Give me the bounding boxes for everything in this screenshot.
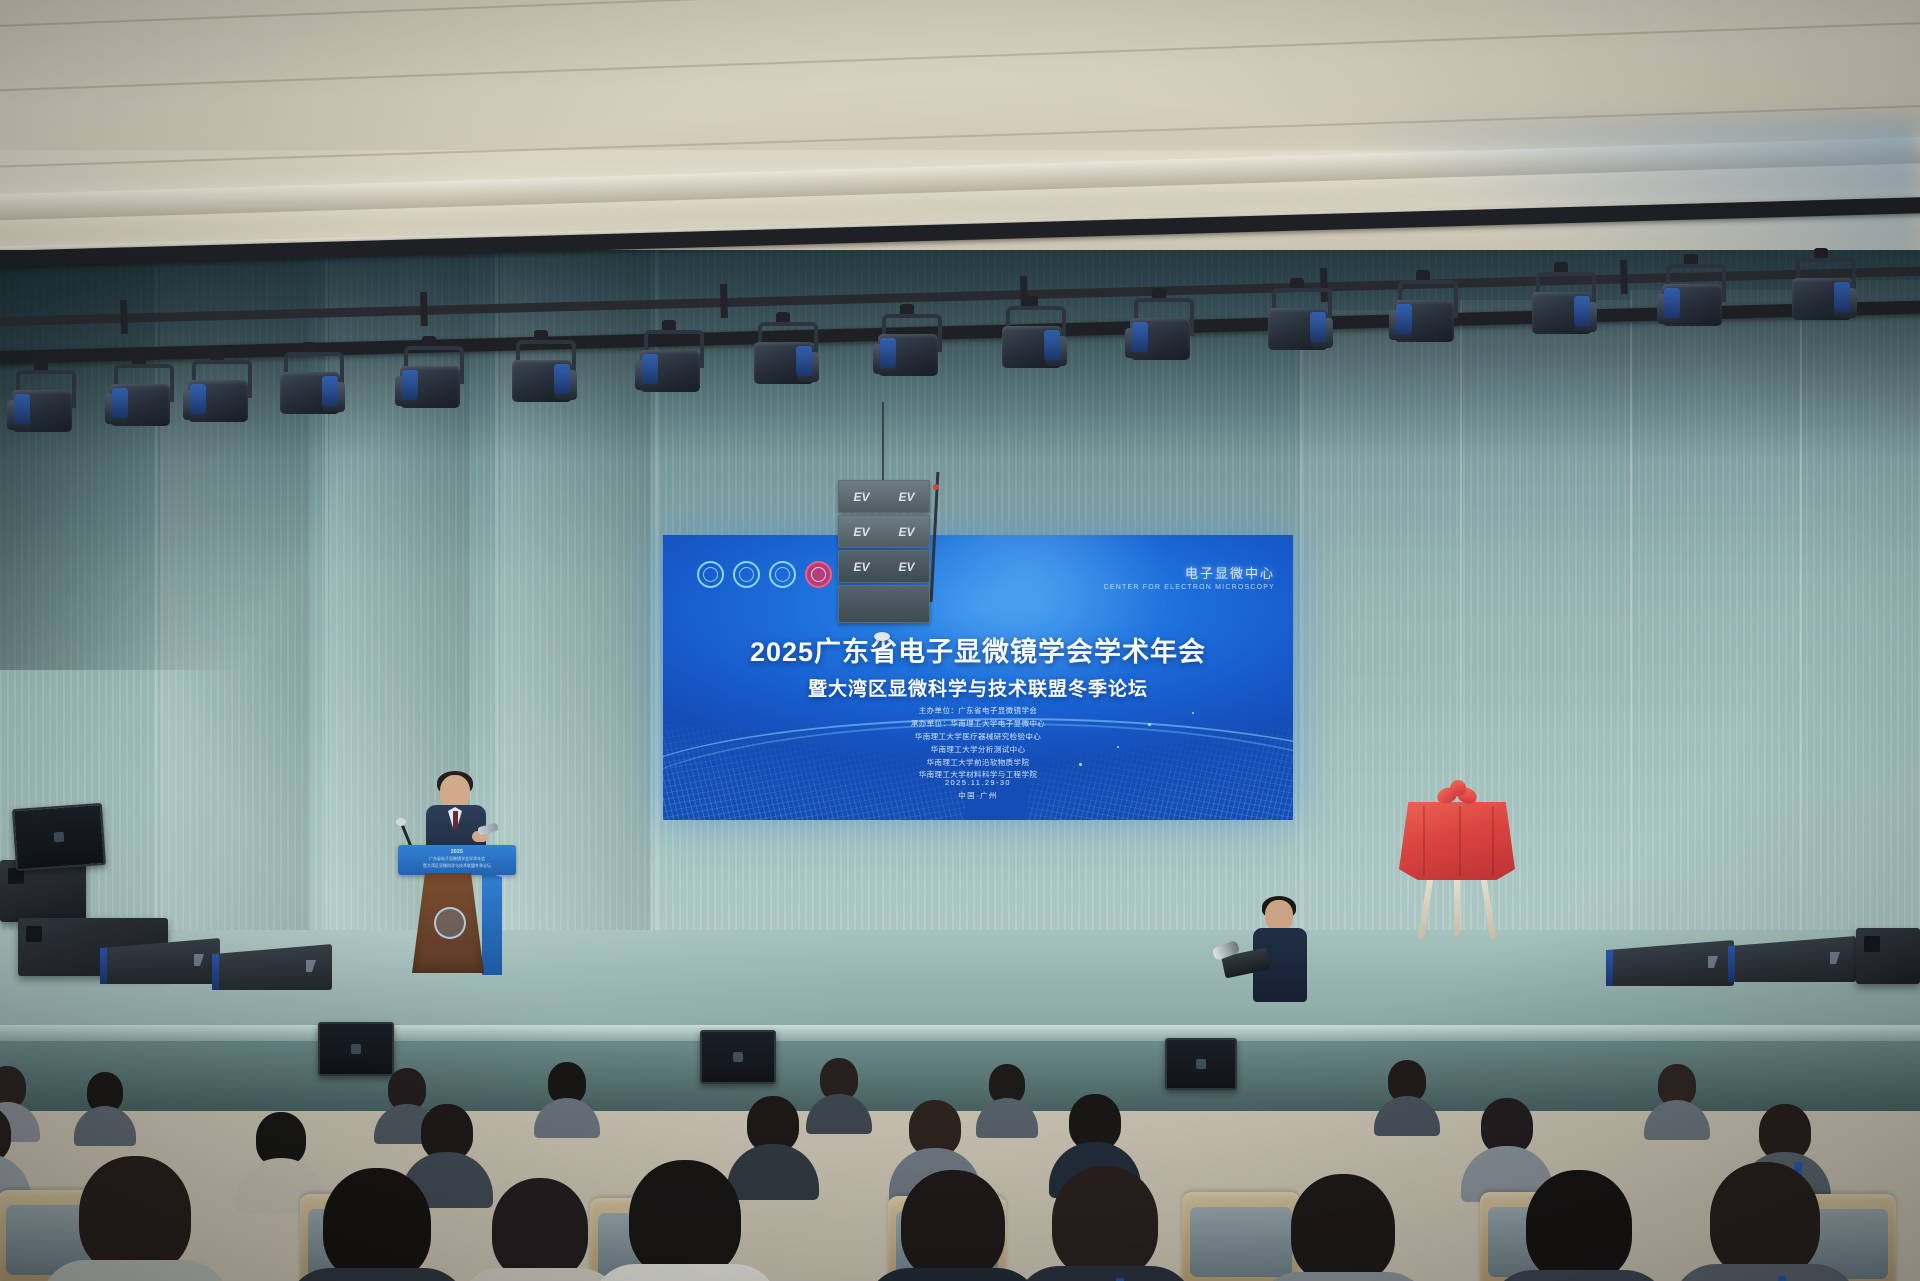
university-logo-3 — [769, 561, 796, 588]
audience-member — [1380, 1060, 1434, 1120]
truss-upright — [420, 292, 428, 326]
audience-member — [78, 1072, 132, 1132]
stage-light — [1530, 272, 1594, 350]
organizer-line: 主办单位：广东省电子显微镜学会 — [663, 705, 1293, 718]
stage-light — [876, 314, 940, 392]
audience-member — [980, 1064, 1034, 1124]
screen-title-line1: 2025广东省电子显微镜学会学术年会 — [663, 630, 1293, 669]
organizer-line: 承办单位：华南理工大学电子显微中心 — [663, 718, 1293, 731]
easel-leg — [1454, 872, 1460, 936]
podium-microphone-head — [396, 818, 406, 826]
stage-subwoofer — [1856, 928, 1920, 984]
easel-leg — [1480, 872, 1497, 940]
audience-member — [70, 1156, 200, 1281]
audience-member — [312, 1168, 442, 1281]
covered-easel — [1397, 780, 1517, 940]
speaker-brand-mark: EV — [898, 490, 914, 504]
university-logo-2 — [733, 561, 760, 588]
speaker-brand-mark: EV — [853, 560, 869, 574]
audience-member — [1280, 1174, 1406, 1281]
podium-title-line1: 广东省电子显微镜学会学术年会 — [398, 856, 516, 862]
audience-member — [1472, 1098, 1542, 1178]
center-brand-cn: 电子显微中心 — [1104, 563, 1275, 582]
speaker-indicator-light — [933, 484, 939, 490]
event-location: 中国·广州 — [663, 789, 1293, 802]
stage-light — [108, 364, 172, 442]
podium: 2025 广东省电子显微镜学会学术年会 暨大湾区显微科学与技术联盟冬季论坛 — [398, 845, 516, 975]
university-logo-4 — [805, 561, 832, 588]
easel-leg — [1418, 872, 1435, 940]
speaker-module: EVEV — [838, 515, 930, 548]
conference-hall-photo: 电子显微中心 CENTER FOR ELECTRON MICROSCOPY 20… — [0, 0, 1920, 1281]
stage-light — [10, 370, 74, 448]
stage-light — [278, 352, 342, 430]
speaker-brand-mark: EV — [853, 490, 869, 504]
organizer-line: 华南理工大学前沿软物质学院 — [663, 757, 1293, 770]
speaker-suspension-wire — [882, 402, 884, 482]
screen-title: 2025广东省电子显微镜学会学术年会 暨大湾区显微科学与技术联盟冬季论坛 — [663, 630, 1293, 701]
stage-light — [1128, 298, 1192, 376]
screen-title-line2: 暨大湾区显微科学与技术联盟冬季论坛 — [663, 674, 1293, 701]
audience-member — [1650, 1064, 1704, 1124]
university-logo-1 — [697, 561, 724, 588]
audience-member — [1042, 1166, 1168, 1281]
stage-light — [638, 330, 702, 408]
red-cloth-cover — [1399, 802, 1515, 880]
audience-member — [900, 1100, 970, 1180]
truss-upright — [1620, 260, 1628, 294]
audience-member — [890, 1170, 1016, 1281]
ceremonial-ribbon — [1437, 780, 1479, 810]
audience-member — [1700, 1162, 1830, 1281]
audience-member — [812, 1058, 866, 1118]
podium-front-panel: 2025 广东省电子显微镜学会学术年会 暨大湾区显微科学与技术联盟冬季论坛 — [398, 845, 516, 875]
audience-member — [480, 1178, 600, 1281]
speaker-brand-mark: EV — [898, 560, 914, 574]
stage-light — [1660, 264, 1724, 342]
presenter-tie — [453, 811, 458, 829]
audience-member — [1516, 1170, 1642, 1281]
podium-year: 2025 — [398, 849, 516, 855]
stage-light — [510, 340, 574, 418]
stage-light — [1392, 280, 1456, 358]
speaker-brand-mark: EV — [853, 525, 869, 539]
speaker-brand-mark: EV — [898, 525, 914, 539]
speaker-module — [838, 585, 930, 623]
center-brand-en: CENTER FOR ELECTRON MICROSCOPY — [1104, 584, 1275, 591]
organizer-line: 华南理工大学医疗器械研究检验中心 — [663, 731, 1293, 744]
organizer-list: 主办单位：广东省电子显微镜学会 承办单位：华南理工大学电子显微中心 华南理工大学… — [663, 705, 1293, 782]
podium-side-panel — [482, 871, 502, 975]
led-screen: 电子显微中心 CENTER FOR ELECTRON MICROSCOPY 20… — [663, 535, 1293, 820]
hanging-microphone — [874, 632, 890, 641]
podium-emblem — [434, 907, 466, 939]
organizer-line: 华南理工大学分析测试中心 — [663, 744, 1293, 757]
camera-operator — [1245, 900, 1315, 1030]
stage-light — [1266, 288, 1330, 366]
speaker-module: EVEV — [838, 550, 930, 583]
stage-confidence-monitor — [12, 803, 106, 871]
stage-light — [398, 346, 462, 424]
line-array-speaker: EVEV EVEV EVEV — [838, 480, 930, 625]
truss-upright — [720, 284, 728, 318]
lanyard — [1778, 1276, 1786, 1281]
stage-light — [1790, 258, 1854, 336]
audience-member — [1060, 1094, 1130, 1174]
podium-title-line2: 暨大湾区显微科学与技术联盟冬季论坛 — [398, 863, 516, 869]
event-date: 2025.11.29-30 — [663, 776, 1293, 789]
center-brand: 电子显微中心 CENTER FOR ELECTRON MICROSCOPY — [1104, 563, 1275, 591]
speaker-module: EVEV — [838, 480, 930, 513]
stage-light — [186, 360, 250, 438]
presenter-head — [440, 775, 470, 809]
audience-area — [0, 1020, 1920, 1281]
sponsor-logo-row — [697, 561, 832, 588]
audience-member — [620, 1160, 750, 1281]
stage-light — [752, 322, 816, 400]
audience-member — [540, 1062, 594, 1122]
audience-member — [246, 1112, 316, 1192]
audience-member — [0, 1106, 20, 1186]
ceiling-seam — [0, 19, 1920, 94]
screen-footer: 2025.11.29-30 中国·广州 — [663, 776, 1293, 802]
stage-light — [1000, 306, 1064, 384]
stage-subwoofer — [0, 860, 86, 922]
ceiling-seam — [0, 0, 1920, 30]
truss-upright — [120, 300, 128, 334]
